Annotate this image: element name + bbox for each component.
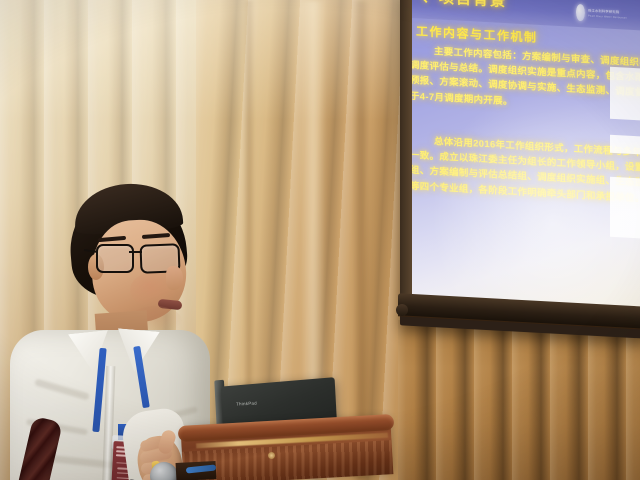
laptop-watermark: ThinkPad: [236, 400, 257, 406]
slide-paragraph-2: 总体沿用2016年工作组织形式，工作流程与多年基本 一致。成立以珠江委主任为组长…: [410, 132, 640, 206]
lower-right-curtain-pleats: [398, 320, 640, 480]
logo-mark-icon: [576, 3, 585, 20]
logo-line-english: Pearl River Water Resources: [588, 15, 627, 20]
slide-paragraph-1: 主要工作内容包括：方案编制与审查、调度组织实施、 调度评估与总结。调度组织实施是…: [410, 42, 640, 116]
slide-overlay-box: [610, 67, 640, 121]
projection-screen-roller-knob: [396, 304, 408, 316]
presentation-slide: 、项目背景 珠江水利科学研究院 Pearl River Water Resour…: [400, 0, 640, 319]
eyeglass-lens-left: [96, 244, 134, 273]
lower-right-curtain: [398, 320, 640, 480]
organization-logo: 珠江水利科学研究院 Pearl River Water Resources: [576, 1, 640, 26]
projection-screen: 、项目背景 珠江水利科学研究院 Pearl River Water Resour…: [400, 0, 640, 319]
logo-text: 珠江水利科学研究院 Pearl River Water Resources: [588, 8, 627, 20]
slide-overlay-box: [610, 135, 640, 155]
eyeglass-bridge: [129, 251, 142, 253]
logo-line-chinese: 珠江水利科学研究院: [588, 8, 627, 15]
slide-overlay-box: [610, 177, 640, 239]
projection-screen-left-edge: [400, 0, 412, 312]
presentation-photo-scene: 、项目背景 珠江水利科学研究院 Pearl River Water Resour…: [0, 0, 640, 480]
speaker-nose: [166, 266, 183, 290]
laptop-brand-logo: ThinkPad: [236, 399, 258, 407]
